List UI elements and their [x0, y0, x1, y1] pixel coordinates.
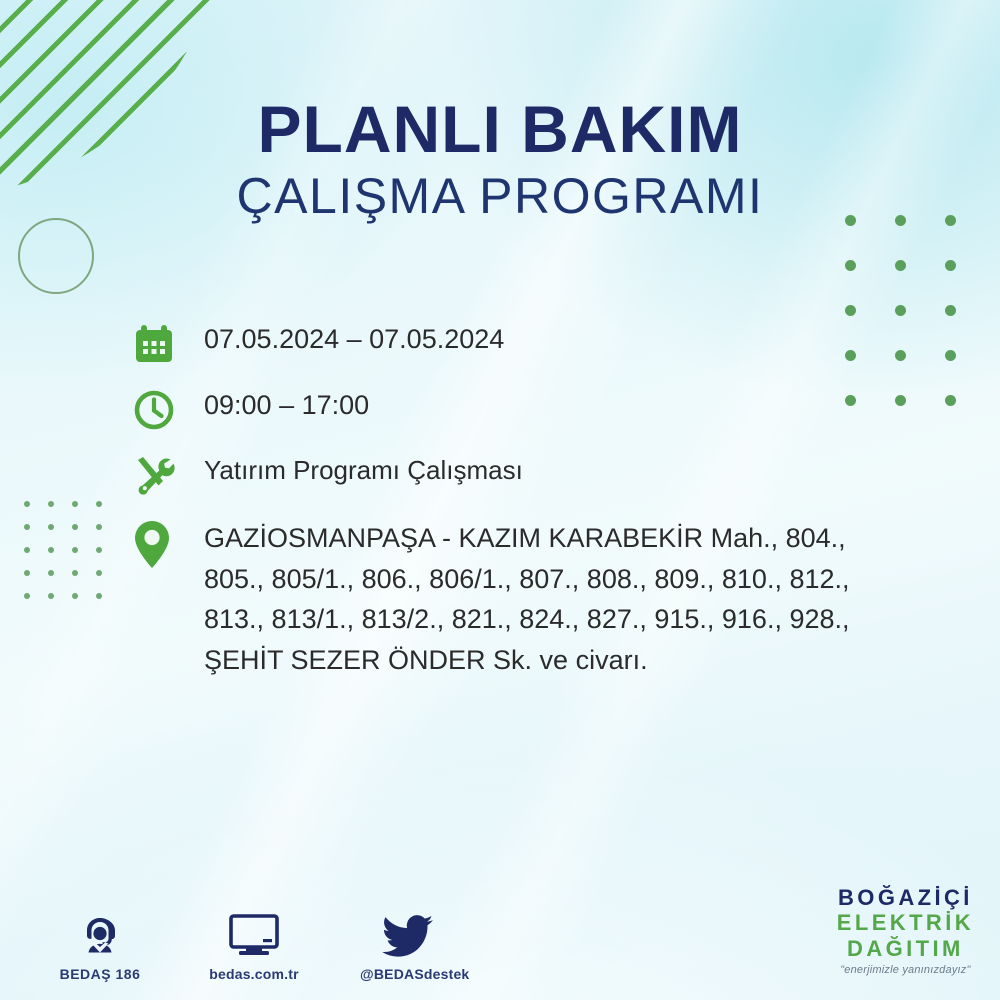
decor-dot — [48, 570, 54, 576]
decor-dot — [48, 524, 54, 530]
address-line-0: GAZİOSMANPAŞA - KAZIM KARABEKİR Mah., 80… — [204, 518, 850, 559]
date-range-text: 07.05.2024 – 07.05.2024 — [204, 320, 504, 359]
footer-item-phone[interactable]: BEDAŞ 186 — [52, 905, 148, 982]
decor-dot — [945, 260, 956, 271]
footer-item-website[interactable]: bedas.com.tr — [206, 905, 302, 982]
decor-dot — [24, 570, 30, 576]
decor-dot — [96, 593, 102, 599]
location-pin-icon — [132, 518, 204, 570]
info-row-time: 09:00 – 17:00 — [132, 386, 992, 432]
footer-item-twitter[interactable]: @BEDASdestek — [360, 905, 456, 982]
address-text: GAZİOSMANPAŞA - KAZIM KARABEKİR Mah., 80… — [204, 518, 850, 680]
decor-dot — [72, 524, 78, 530]
decor-dot — [48, 501, 54, 507]
twitter-bird-icon — [360, 905, 456, 959]
footer-label-website: bedas.com.tr — [206, 966, 302, 982]
footer-contacts: BEDAŞ 186 bedas.com.tr @BEDASdestek — [52, 905, 456, 982]
clock-icon — [132, 386, 204, 432]
decor-dot — [24, 501, 30, 507]
decor-dot — [24, 593, 30, 599]
decor-dot — [72, 501, 78, 507]
brand-line-dagitim: DAĞITIM — [837, 936, 974, 961]
decor-dot — [945, 305, 956, 316]
decor-dot — [48, 593, 54, 599]
info-row-work-type: Yatırım Programı Çalışması — [132, 452, 992, 498]
monitor-icon — [206, 905, 302, 959]
decor-dot — [72, 593, 78, 599]
brand-line-elektrik: ELEKTRİK — [837, 910, 974, 935]
title-subtitle: ÇALIŞMA PROGRAMI — [0, 167, 1000, 226]
decor-dot — [72, 570, 78, 576]
brand-line-bogazici: BOĞAZİÇİ — [837, 885, 974, 910]
info-row-date: 07.05.2024 – 07.05.2024 — [132, 320, 992, 366]
decor-dot — [96, 524, 102, 530]
decor-dot — [845, 305, 856, 316]
time-range-text: 09:00 – 17:00 — [204, 386, 369, 425]
brand-logo: BOĞAZİÇİ ELEKTRİK DAĞITIM "enerjimizle y… — [837, 885, 974, 976]
info-list: 07.05.2024 – 07.05.2024 09:00 – 17:00 — [132, 320, 992, 680]
address-line-3: ŞEHİT SEZER ÖNDER Sk. ve civarı. — [204, 640, 850, 681]
info-row-address: GAZİOSMANPAŞA - KAZIM KARABEKİR Mah., 80… — [132, 518, 992, 680]
brand-tagline: "enerjimizle yanınızdayız" — [837, 964, 974, 976]
poster-canvas: PLANLI BAKIM ÇALIŞMA PROGRAMI 07.05.2024… — [0, 0, 1000, 1000]
decor-dot — [895, 305, 906, 316]
decor-dot — [24, 547, 30, 553]
decor-dot — [845, 260, 856, 271]
footer-label-twitter: @BEDASdestek — [360, 966, 456, 982]
decor-dot — [48, 547, 54, 553]
title-main: PLANLI BAKIM — [0, 96, 1000, 163]
calendar-icon — [132, 320, 204, 366]
circle-outline-decoration — [18, 218, 94, 294]
tools-icon — [132, 452, 204, 498]
decor-dot — [72, 547, 78, 553]
address-line-2: 813., 813/1., 813/2., 821., 824., 827., … — [204, 599, 850, 640]
call-center-agent-icon — [52, 905, 148, 959]
work-type-text: Yatırım Programı Çalışması — [204, 452, 523, 489]
decor-dot — [96, 547, 102, 553]
decor-dot — [24, 524, 30, 530]
decor-dot — [96, 501, 102, 507]
address-line-1: 805., 805/1., 806., 806/1., 807., 808., … — [204, 559, 850, 600]
decor-dot — [96, 570, 102, 576]
footer-label-phone: BEDAŞ 186 — [52, 966, 148, 982]
page-title: PLANLI BAKIM ÇALIŞMA PROGRAMI — [0, 96, 1000, 226]
decor-dot — [895, 260, 906, 271]
dot-grid-left-decoration — [15, 492, 111, 607]
